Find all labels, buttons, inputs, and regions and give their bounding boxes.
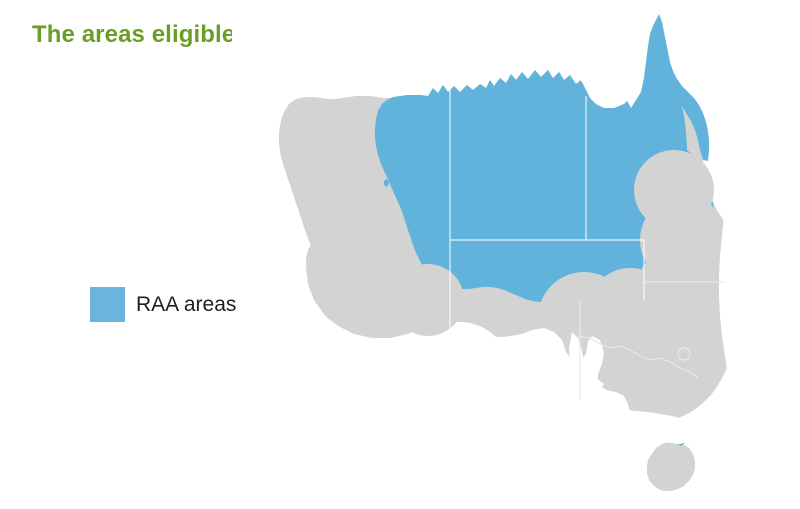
australia-map bbox=[232, 0, 800, 509]
map-page: The areas eligible for the RAA bbox=[0, 0, 800, 509]
map-legend: RAA areas bbox=[90, 287, 236, 322]
legend-swatch-raa-areas bbox=[90, 287, 125, 322]
legend-label-raa-areas: RAA areas bbox=[136, 287, 236, 322]
tasmania-ineligible bbox=[647, 442, 695, 491]
exclusion-zone-brisbane bbox=[624, 284, 700, 360]
australia-map-svg bbox=[232, 0, 800, 509]
